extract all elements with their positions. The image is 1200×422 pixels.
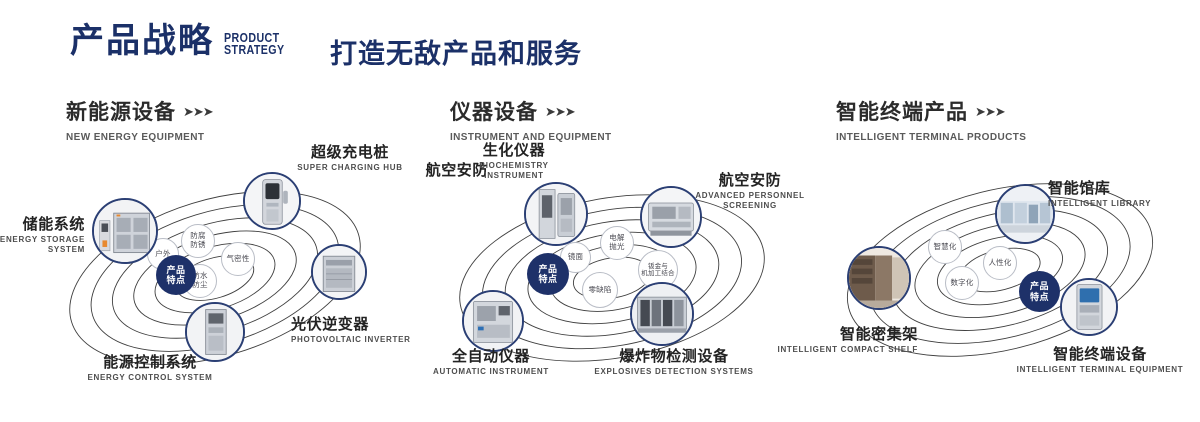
automatic-instrument-photo [464, 292, 522, 350]
feature-bubble-line1: 钣金与 [648, 263, 668, 270]
feature-bubble-line1: 人性化 [988, 258, 1011, 267]
feature-bubble-line1: 零缺陷 [588, 285, 611, 294]
badge-line2: 特点 [538, 274, 557, 284]
node-label-cn: 超级充电桩 [285, 144, 415, 161]
energy-storage-photo [94, 200, 156, 262]
chevron-right-icon: ➤➤➤ [183, 104, 213, 120]
node-label-cn: 爆炸物检测设备 [590, 348, 758, 365]
feature-bubble-line2: 抛光 [609, 242, 624, 251]
node-intelligent-compact-shelf[interactable] [847, 246, 911, 310]
node-label-en: ADVANCED PERSONNEL SCREENING [688, 191, 812, 211]
badge-line2: 特点 [166, 275, 185, 285]
label-intelligent-library: 智能馆库 INTELLIGENT LIBRARY [1048, 180, 1200, 209]
node-intelligent-library[interactable] [995, 184, 1055, 244]
chevron-right-icon: ➤➤➤ [545, 104, 575, 120]
feature-bubble: 防腐防锈 [181, 224, 215, 258]
compact-shelf-photo [849, 248, 909, 308]
node-energy-control-system[interactable] [185, 302, 245, 362]
feature-bubble: 气密性 [221, 242, 255, 276]
feature-bubble-line2: 防尘 [192, 280, 207, 289]
chevron-right-icon: ➤➤➤ [975, 104, 1005, 120]
node-label-cn: 智能馆库 [1048, 180, 1200, 197]
node-label-en: INTELLIGENT LIBRARY [1048, 199, 1200, 209]
section-heading-instrument: 仪器设备➤➤➤ INSTRUMENT AND EQUIPMENT [450, 96, 611, 143]
badge-line1: 产品 [538, 264, 557, 274]
cluster-instrument-and-equipment: 镜面 电解抛光 钣金与机加工结合 零缺陷 产品特点 航空安防 [440, 150, 800, 400]
section-heading-en: NEW ENERGY EQUIPMENT [66, 132, 213, 143]
node-super-charging-hub[interactable] [243, 172, 301, 230]
node-label-cn: 能源控制系统 [65, 354, 235, 371]
label-intelligent-terminal-equipment: 智能终端设备 INTELLIGENT TERMINAL EQUIPMENT [1010, 346, 1190, 375]
node-biochemistry-instrument[interactable] [524, 182, 588, 246]
label-explosives-detection-systems: 爆炸物检测设备 EXPLOSIVES DETECTION SYSTEMS [590, 348, 758, 377]
badge-line1: 产品 [166, 265, 185, 275]
page-subtitle: 打造无敌产品和服务 [330, 32, 582, 71]
terminal-equipment-photo [1062, 280, 1116, 334]
page-title-en: PRODUCT STRATEGY [224, 32, 285, 56]
feature-bubble: 数字化 [945, 266, 979, 300]
section-heading-cn: 智能终端产品 [836, 96, 968, 126]
node-automatic-instrument[interactable] [462, 290, 524, 352]
node-energy-storage-system[interactable] [92, 198, 158, 264]
label-energy-storage-system: 储能系统 ENERGY STORAGE SYSTEM [0, 216, 85, 255]
charging-hub-photo [245, 174, 299, 228]
node-label-en: PHOTOVOLTAIC INVERTER [291, 335, 441, 345]
page-title-cn: 产品战略 [70, 24, 214, 58]
badge-line2: 特点 [1030, 292, 1049, 302]
node-photovoltaic-inverter[interactable] [311, 244, 367, 300]
section-heading-cn: 新能源设备 [66, 96, 176, 126]
feature-bubble: 电解抛光 [600, 226, 634, 260]
node-intelligent-terminal-equipment[interactable] [1060, 278, 1118, 336]
label-advanced-personnel-screening: 航空安防 ADVANCED PERSONNEL SCREENING [688, 172, 812, 211]
product-features-badge: 产品特点 [1020, 272, 1059, 311]
energy-control-photo [187, 304, 243, 360]
node-label-en: AUTOMATIC INSTRUMENT [426, 367, 556, 377]
page-title: 产品战略 PRODUCT STRATEGY [70, 24, 298, 58]
explosives-detection-photo [632, 284, 692, 344]
feature-bubble-line1: 镜面 [568, 252, 583, 261]
node-label-cn: 航空安防 [688, 172, 812, 189]
label-biochemistry-instrument: 生化仪器 BIOCHEMISTRY INSTRUMENT [450, 142, 578, 181]
node-label-en: ENERGY STORAGE SYSTEM [0, 235, 85, 255]
cluster-new-energy-equipment: 户外 防腐防锈 防水防尘 气密性 产品特点 [55, 150, 415, 400]
feature-bubble: 智慧化 [928, 230, 962, 264]
feature-bubble: 人性化 [983, 246, 1017, 280]
feature-bubble-line1: 气密性 [226, 254, 249, 263]
feature-bubble-line1: 数字化 [950, 278, 973, 287]
section-heading-en: INTELLIGENT TERMINAL PRODUCTS [836, 132, 1026, 143]
inverter-photo [313, 246, 365, 298]
label-energy-control-system: 能源控制系统 ENERGY CONTROL SYSTEM [65, 354, 235, 383]
intelligent-library-photo [997, 186, 1053, 242]
product-features-badge: 产品特点 [157, 256, 195, 294]
label-intelligent-compact-shelf: 智能密集架 INTELLIGENT COMPACT SHELF [768, 326, 918, 355]
section-heading-cn: 仪器设备 [450, 96, 538, 126]
cluster-intelligent-terminal-products: 智慧化 人性化 数字化 产品特点 智能馆库 INTELLIGENT LI [820, 150, 1190, 400]
node-label-en: BIOCHEMISTRY INSTRUMENT [450, 161, 578, 181]
page-title-en-line2: STRATEGY [224, 44, 285, 56]
node-label-cn: 智能终端设备 [1010, 346, 1190, 363]
node-label-cn: 储能系统 [0, 216, 85, 233]
section-heading-new-energy: 新能源设备➤➤➤ NEW ENERGY EQUIPMENT [66, 96, 213, 143]
feature-bubble-line2: 防锈 [190, 240, 205, 249]
section-heading-intelligent-terminal: 智能终端产品➤➤➤ INTELLIGENT TERMINAL PRODUCTS [836, 96, 1026, 143]
biochemistry-photo [526, 184, 586, 244]
node-explosives-detection-systems[interactable] [630, 282, 694, 346]
node-label-cn: 智能密集架 [768, 326, 918, 343]
label-automatic-instrument: 全自动仪器 AUTOMATIC INSTRUMENT [426, 348, 556, 377]
feature-bubble: 零缺陷 [582, 272, 618, 308]
node-label-en: EXPLOSIVES DETECTION SYSTEMS [590, 367, 758, 377]
node-label-en: INTELLIGENT TERMINAL EQUIPMENT [1010, 365, 1190, 375]
node-label-cn: 光伏逆变器 [291, 316, 441, 333]
feature-bubble-line2: 机加工结合 [641, 270, 675, 277]
node-label-cn: 生化仪器 [450, 142, 578, 159]
node-label-en: ENERGY CONTROL SYSTEM [65, 373, 235, 383]
product-features-badge: 产品特点 [528, 254, 568, 294]
badge-line1: 产品 [1030, 281, 1049, 291]
label-photovoltaic-inverter: 光伏逆变器 PHOTOVOLTAIC INVERTER [291, 316, 441, 345]
node-label-en: INTELLIGENT COMPACT SHELF [768, 345, 918, 355]
feature-bubble-line1: 智慧化 [933, 242, 956, 251]
node-label-cn: 全自动仪器 [426, 348, 556, 365]
product-strategy-infographic: 产品战略 PRODUCT STRATEGY 打造无敌产品和服务 新能源设备➤➤➤… [0, 0, 1200, 422]
